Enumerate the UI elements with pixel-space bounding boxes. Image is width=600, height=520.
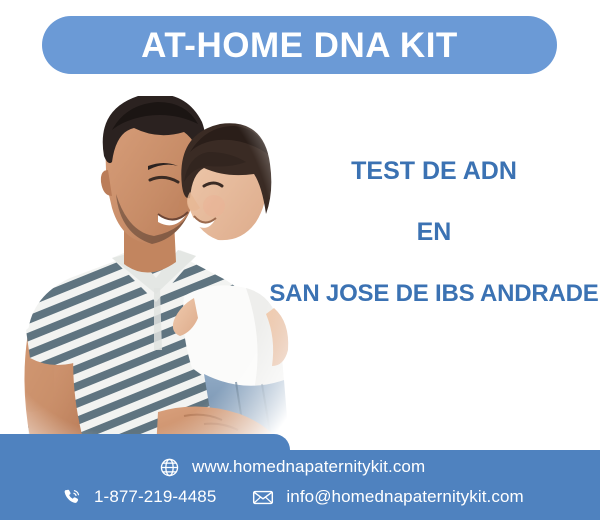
globe-icon [158, 456, 180, 478]
footer-email-text: info@homednapaternitykit.com [286, 487, 523, 507]
footer-phone-text: 1-877-219-4485 [94, 487, 216, 507]
page-title: AT-HOME DNA KIT [141, 28, 458, 63]
footer-contact-row: 1-877-219-4485 info@homednapaternitykit.… [60, 486, 524, 508]
footer-website-text: www.homednapaternitykit.com [192, 457, 425, 477]
footer-website-item[interactable]: www.homednapaternitykit.com [158, 456, 425, 478]
dna-kit-promo-banner: AT-HOME DNA KIT [0, 0, 600, 520]
father-and-child-photo [8, 82, 308, 450]
headline-line-service: TEST DE ADN [268, 158, 600, 184]
footer-email-item[interactable]: info@homednapaternitykit.com [252, 486, 523, 508]
phone-icon [60, 486, 82, 508]
headline-line-location: SAN JOSE DE IBS ANDRADE [268, 281, 600, 306]
footer-content: www.homednapaternitykit.com 1-877-219-44… [0, 450, 600, 520]
headline-line-preposition: EN [268, 219, 600, 245]
headline-block: TEST DE ADN EN SAN JOSE DE IBS ANDRADE [268, 158, 600, 306]
footer-website-row: www.homednapaternitykit.com [158, 456, 425, 478]
footer-phone-item[interactable]: 1-877-219-4485 [60, 486, 216, 508]
header-pill: AT-HOME DNA KIT [42, 16, 557, 74]
envelope-icon [252, 486, 274, 508]
